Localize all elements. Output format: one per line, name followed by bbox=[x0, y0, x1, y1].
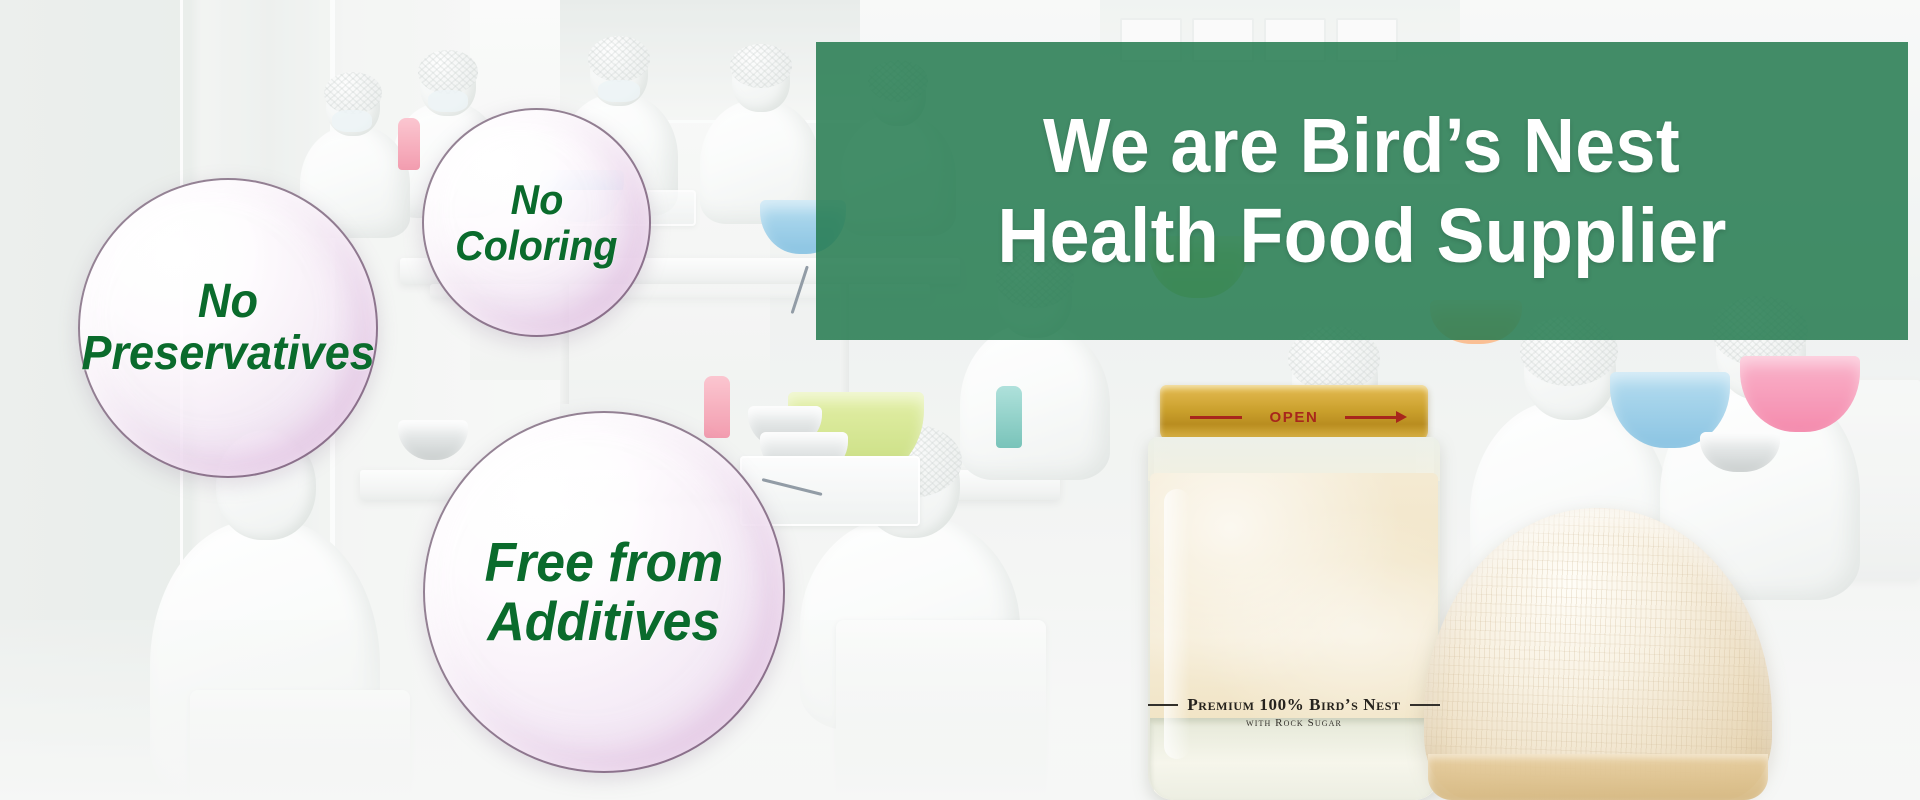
jar-label: Premium 100% Bird’s Nest with Rock Sugar bbox=[1148, 695, 1440, 729]
hairnet bbox=[730, 44, 792, 88]
face-mask bbox=[332, 110, 372, 132]
hairnet bbox=[588, 36, 650, 82]
lid-arrow-icon bbox=[1396, 411, 1407, 423]
promotional-banner: We are Bird’s Nest Health Food Supplier … bbox=[0, 0, 1920, 800]
jar-label-subtitle: with Rock Sugar bbox=[1148, 717, 1440, 729]
jar-body: Premium 100% Bird’s Nest with Rock Sugar bbox=[1148, 437, 1440, 800]
worker-figure bbox=[700, 44, 820, 224]
headline-line-2: Health Food Supplier bbox=[997, 191, 1726, 281]
teal-squeeze-bottle bbox=[996, 386, 1022, 448]
bubble-label-line-1: Free from bbox=[485, 533, 723, 592]
feature-bubble-no-preservatives: No Preservatives bbox=[78, 178, 378, 478]
label-rule-right bbox=[1410, 704, 1440, 706]
headline-banner: We are Bird’s Nest Health Food Supplier bbox=[816, 42, 1908, 340]
jar-lid: OPEN bbox=[1160, 385, 1428, 441]
bubble-label-line-1: No bbox=[510, 177, 563, 222]
lid-dash-right bbox=[1345, 416, 1397, 419]
product-jar: OPEN Premium 100% Bird’s Nest with Rock … bbox=[1148, 385, 1440, 800]
jar-nest-contents bbox=[1150, 473, 1438, 725]
pink-squeeze-bottle bbox=[704, 376, 730, 438]
feature-bubble-no-coloring: No Coloring bbox=[422, 108, 651, 337]
bubble-label-line-2: Preservatives bbox=[81, 328, 375, 380]
bubble-label-line-2: Coloring bbox=[455, 223, 617, 268]
hairnet bbox=[418, 50, 478, 94]
face-mask bbox=[598, 80, 640, 102]
jar-label-title-row: Premium 100% Bird’s Nest bbox=[1148, 695, 1440, 715]
headline-line-1: We are Bird’s Nest bbox=[1043, 101, 1680, 191]
label-rule-left bbox=[1148, 704, 1178, 706]
hairnet bbox=[324, 72, 382, 114]
bubble-label-line-2: Additives bbox=[488, 592, 721, 651]
jar-liquid-bottom bbox=[1150, 718, 1438, 800]
face-mask bbox=[428, 90, 468, 112]
pink-squeeze-bottle bbox=[398, 118, 420, 170]
bird-nest-bottom-edge bbox=[1428, 754, 1768, 800]
bubble-label-line-1: No bbox=[198, 276, 258, 328]
jar-label-title: Premium 100% Bird’s Nest bbox=[1187, 695, 1400, 715]
feature-bubble-free-from-additives: Free from Additives bbox=[423, 411, 785, 773]
